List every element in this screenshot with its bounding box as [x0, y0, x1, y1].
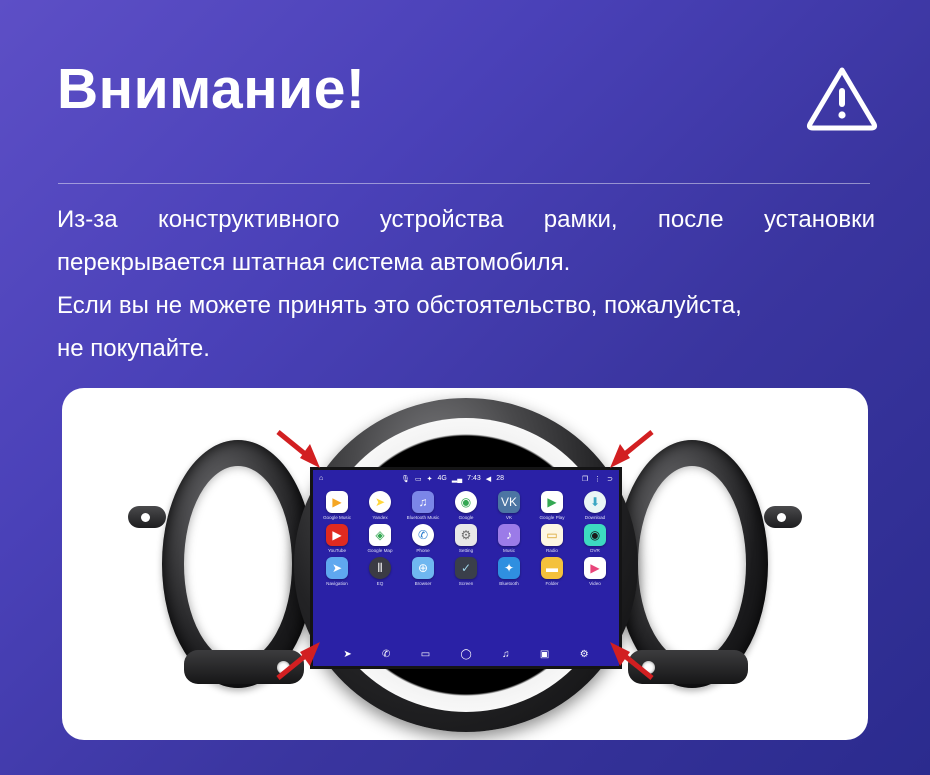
app-tile[interactable]: ➤Yandex — [361, 491, 399, 521]
music-icon[interactable]: ♪ — [498, 524, 520, 546]
app-label: Video — [589, 581, 601, 587]
dvr-camera-icon[interactable]: ◉ — [584, 524, 606, 546]
app-tile[interactable]: ⦀EQ — [361, 557, 399, 587]
status-volume-icon: ◀ — [486, 475, 491, 483]
app-row: ▶YouTube◈Google Map✆Phone⚙Setting♪Music▭… — [313, 524, 619, 554]
screen-off-icon[interactable]: ✓ — [455, 557, 477, 579]
dock-settings-icon[interactable]: ⚙ — [580, 649, 589, 660]
dock-music-icon[interactable]: ♫ — [502, 649, 510, 660]
app-tile[interactable]: ♪Music — [490, 524, 528, 554]
download-icon[interactable]: ⬇ — [584, 491, 606, 513]
app-tile[interactable]: ⊕Browser — [404, 557, 442, 587]
app-label: DVR — [590, 548, 600, 554]
app-label: VK — [506, 515, 512, 521]
app-label: YouTube — [328, 548, 346, 554]
warning-line-4: не покупайте. — [57, 327, 875, 370]
bottom-dock: ➤✆▭◯♫▣⚙ — [313, 642, 619, 666]
browser-globe-icon[interactable]: ⊕ — [412, 557, 434, 579]
app-tile[interactable]: ✆Phone — [404, 524, 442, 554]
warning-body: Из-за конструктивного устройства рамки, … — [57, 198, 875, 370]
dock-camera-icon[interactable]: ▭ — [421, 649, 430, 660]
app-label: Bluetooth Music — [407, 515, 440, 521]
product-assembly: ◐◌⏻⚲❄↺◑ ⌂ 🎙 ▭ ✦ 4G ▂▄ 7:43 ◀ 28 — [62, 388, 868, 740]
app-tile[interactable]: ▶Video — [576, 557, 614, 587]
callout-arrow-top-left — [274, 428, 328, 474]
status-time: 7:43 — [467, 475, 481, 482]
app-row: ▶Google Music➤Yandex♫Bluetooth Music◉Goo… — [313, 491, 619, 521]
status-bluetooth-icon: ✦ — [427, 475, 433, 483]
warning-slide: Внимание! Из-за конструктивного устройст… — [0, 0, 930, 775]
app-label: Bluetooth — [499, 581, 518, 587]
google-chrome-icon[interactable]: ◉ — [455, 491, 477, 513]
right-mount-tab — [764, 506, 802, 528]
app-label: Download — [585, 515, 605, 521]
status-recents-icon[interactable]: ❐ — [582, 475, 588, 483]
app-tile[interactable]: ▶Google Music — [318, 491, 356, 521]
app-label: Yandex — [372, 515, 387, 521]
app-label: Navigation — [326, 581, 348, 587]
callout-arrow-top-right — [602, 428, 656, 474]
equalizer-icon[interactable]: ⦀ — [369, 557, 391, 579]
app-tile[interactable]: ⬇Download — [576, 491, 614, 521]
google-music-icon[interactable]: ▶ — [326, 491, 348, 513]
video-icon[interactable]: ▶ — [584, 557, 606, 579]
youtube-icon[interactable]: ▶ — [326, 524, 348, 546]
google-maps-icon[interactable]: ◈ — [369, 524, 391, 546]
app-tile[interactable]: ▬Folder — [533, 557, 571, 587]
app-label: Google — [459, 515, 474, 521]
status-network-label: 4G — [437, 475, 446, 482]
app-label: Setting — [459, 548, 473, 554]
vk-icon[interactable]: VK — [498, 491, 520, 513]
status-volume-level: 28 — [496, 475, 504, 482]
dock-home-icon[interactable]: ◯ — [461, 649, 472, 660]
status-battery-icon: ▭ — [415, 475, 422, 483]
app-label: Google Play — [539, 515, 564, 521]
status-bar: ⌂ 🎙 ▭ ✦ 4G ▂▄ 7:43 ◀ 28 ❐ ⋮ ⊃ — [313, 470, 619, 487]
app-label: Folder — [545, 581, 558, 587]
app-tile[interactable]: ◉Google — [447, 491, 485, 521]
app-tile[interactable]: ✓Screen — [447, 557, 485, 587]
dock-phone-icon[interactable]: ✆ — [382, 649, 390, 660]
app-tile[interactable]: VKVK — [490, 491, 528, 521]
yandex-icon[interactable]: ➤ — [369, 491, 391, 513]
app-label: Browser — [415, 581, 432, 587]
app-grid: ▶Google Music➤Yandex♫Bluetooth Music◉Goo… — [313, 489, 619, 640]
dock-navigation-icon[interactable]: ➤ — [343, 649, 351, 660]
app-label: Music — [503, 548, 515, 554]
bluetooth-music-icon[interactable]: ♫ — [412, 491, 434, 513]
app-row: ➤Navigation⦀EQ⊕Browser✓Screen✦Bluetooth▬… — [313, 557, 619, 587]
product-photo-card: ◐◌⏻⚲❄↺◑ ⌂ 🎙 ▭ ✦ 4G ▂▄ 7:43 ◀ 28 — [62, 388, 868, 740]
app-tile[interactable]: ▶YouTube — [318, 524, 356, 554]
header-divider — [58, 183, 870, 184]
navigation-arrow-icon[interactable]: ➤ — [326, 557, 348, 579]
app-label: Radio — [546, 548, 558, 554]
app-tile[interactable]: ▭Radio — [533, 524, 571, 554]
phone-icon[interactable]: ✆ — [412, 524, 434, 546]
app-tile[interactable]: ◉DVR — [576, 524, 614, 554]
bluetooth-icon[interactable]: ✦ — [498, 557, 520, 579]
folder-icon[interactable]: ▬ — [541, 557, 563, 579]
app-label: Google Map — [367, 548, 392, 554]
radio-icon[interactable]: ▭ — [541, 524, 563, 546]
app-tile[interactable]: ▶Google Play — [533, 491, 571, 521]
warning-line-1: Из-за конструктивного устройства рамки, … — [57, 198, 875, 241]
status-mic-icon: 🎙 — [401, 475, 410, 483]
app-tile[interactable]: ✦Bluetooth — [490, 557, 528, 587]
warning-triangle-icon — [806, 64, 878, 132]
callout-arrow-bottom-left — [274, 636, 328, 682]
status-home-icon[interactable]: ⌂ — [313, 475, 323, 482]
app-label: Google Music — [323, 515, 351, 521]
warning-line-3: Если вы не можете принять это обстоятель… — [57, 284, 875, 327]
settings-gear-icon[interactable]: ⚙ — [455, 524, 477, 546]
google-play-icon[interactable]: ▶ — [541, 491, 563, 513]
page-title: Внимание! — [57, 58, 365, 120]
app-label: EQ — [377, 581, 384, 587]
app-tile[interactable]: ◈Google Map — [361, 524, 399, 554]
status-back-icon[interactable]: ⊃ — [607, 475, 613, 483]
android-head-unit-screen[interactable]: ⌂ 🎙 ▭ ✦ 4G ▂▄ 7:43 ◀ 28 ❐ ⋮ ⊃ — [313, 470, 619, 666]
app-label: Phone — [416, 548, 429, 554]
status-signal-icon: ▂▄ — [452, 475, 462, 483]
app-tile[interactable]: ⚙Setting — [447, 524, 485, 554]
warning-line-2: перекрывается штатная система автомобиля… — [57, 241, 875, 284]
app-tile[interactable]: ➤Navigation — [318, 557, 356, 587]
status-overflow-icon[interactable]: ⋮ — [594, 475, 601, 483]
callout-arrow-bottom-right — [602, 636, 656, 682]
app-tile[interactable]: ♫Bluetooth Music — [404, 491, 442, 521]
app-label: Screen — [459, 581, 474, 587]
dock-video-icon[interactable]: ▣ — [540, 649, 549, 660]
left-mount-tab — [128, 506, 166, 528]
